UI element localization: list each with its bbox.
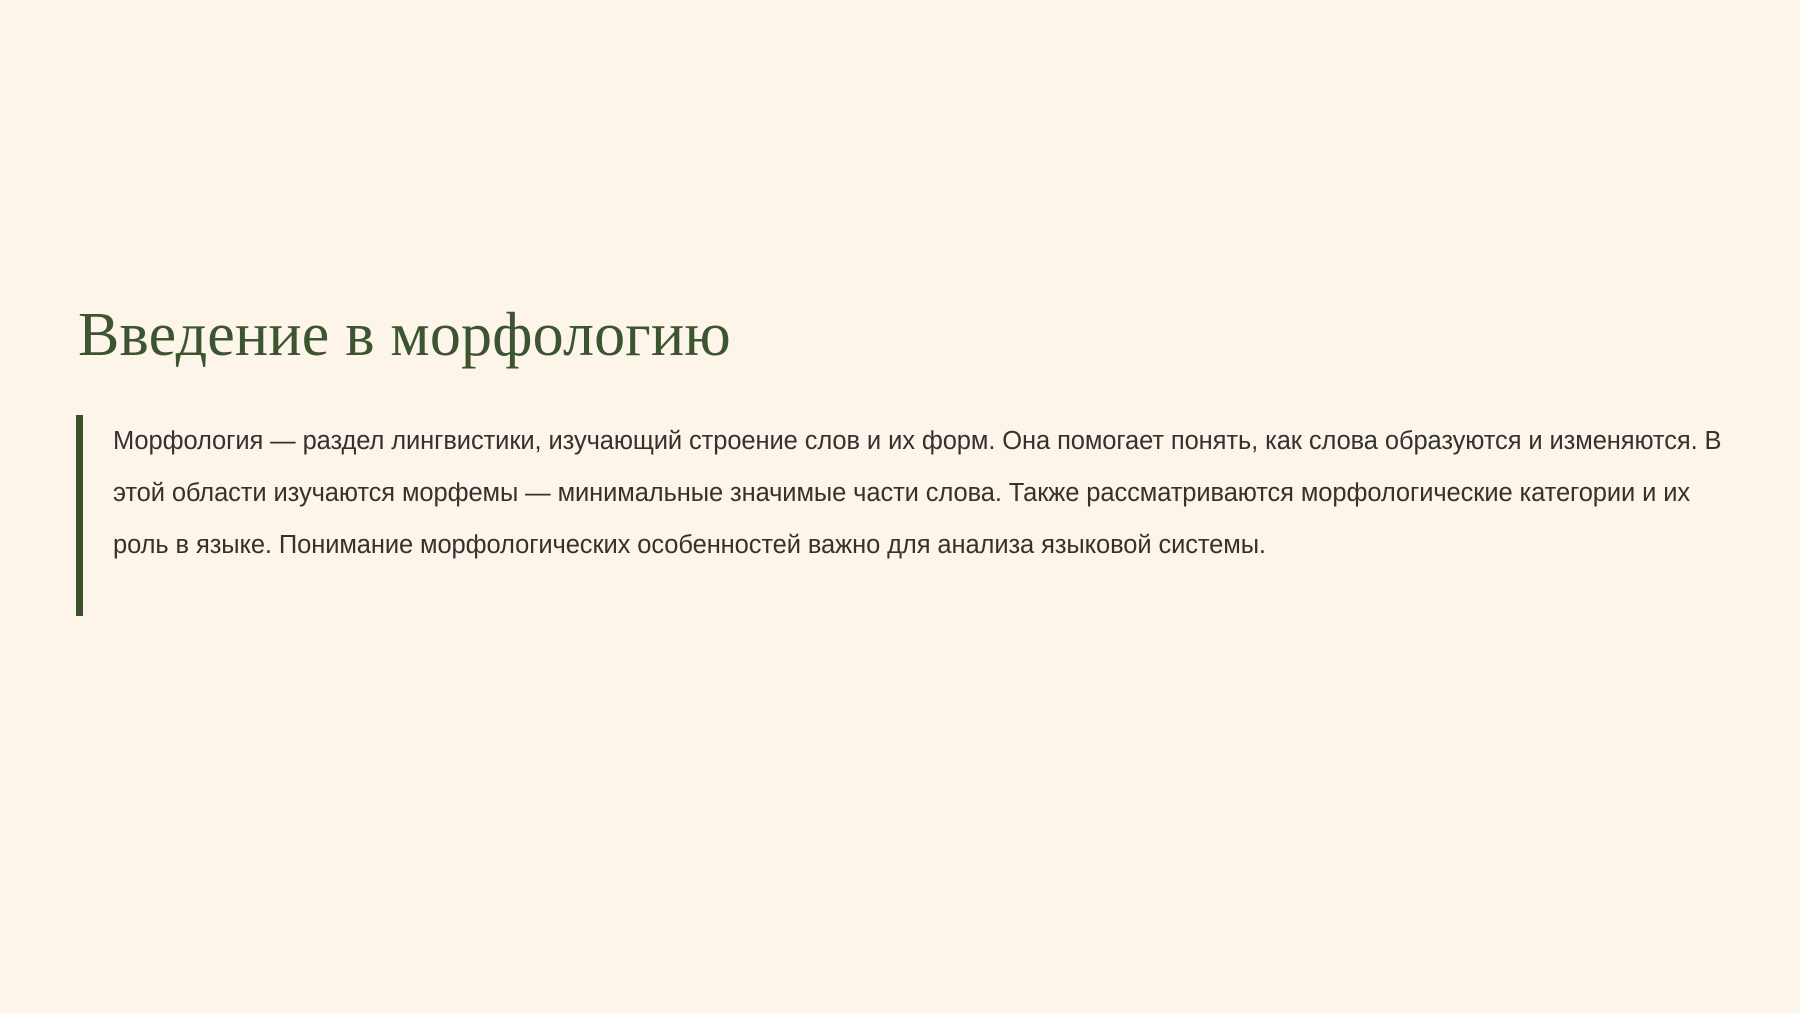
body-quote-block: Морфология — раздел лингвистики, изучающ… (76, 415, 1736, 616)
accent-bar (76, 415, 83, 616)
body-paragraph: Морфология — раздел лингвистики, изучающ… (113, 415, 1733, 571)
slide-canvas: Введение в морфологию Морфология — разде… (0, 0, 1800, 1013)
content-container: Введение в морфологию Морфология — разде… (76, 300, 1736, 616)
page-title: Введение в морфологию (78, 300, 1736, 371)
